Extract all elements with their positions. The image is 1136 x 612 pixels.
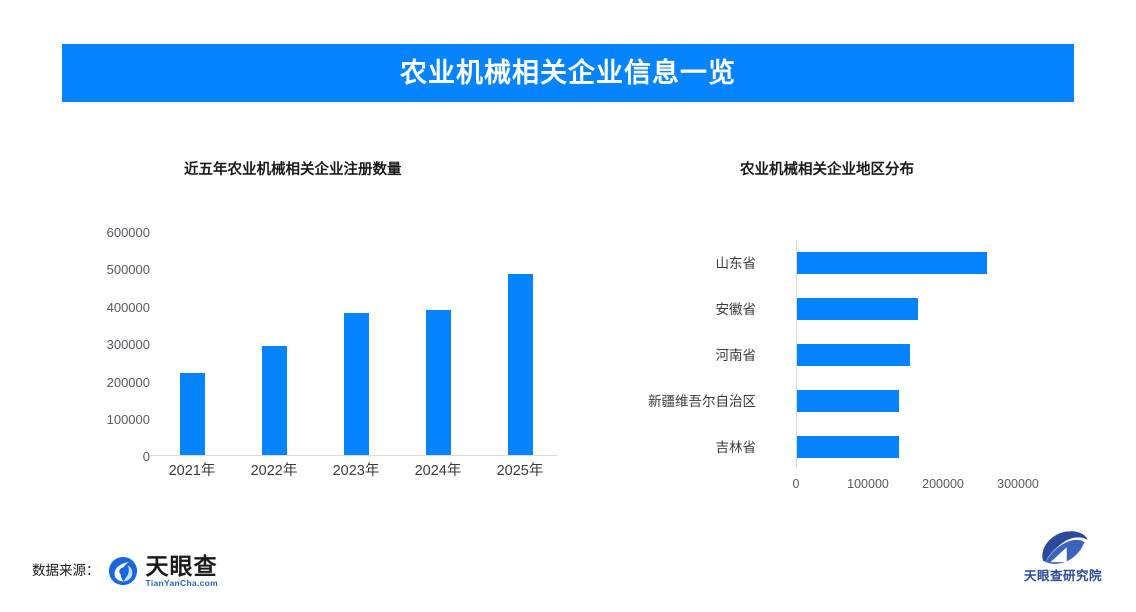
bar-2024 bbox=[426, 310, 451, 455]
x-tick-label-300000: 300000 bbox=[973, 478, 1063, 491]
x-tick-label-2025: 2025年 bbox=[480, 464, 560, 479]
poster-canvas: 农业机械相关企业信息一览 近五年农业机械相关企业注册数量 600000 5000… bbox=[0, 0, 1136, 612]
bar-anhui bbox=[797, 298, 918, 320]
x-tick-label-2023: 2023年 bbox=[316, 464, 396, 479]
bar-jilin bbox=[797, 436, 899, 458]
tianyancha-lens-icon bbox=[108, 556, 138, 586]
bar-henan bbox=[797, 344, 910, 366]
x-tick-label-2024: 2024年 bbox=[398, 464, 478, 479]
registration-count-chart: 近五年农业机械相关企业注册数量 600000 500000 400000 300… bbox=[62, 130, 582, 500]
tianyancha-institute-icon bbox=[1037, 528, 1089, 568]
institute-footer: 天眼查研究院 bbox=[1020, 528, 1106, 583]
category-label-henan: 河南省 bbox=[716, 349, 757, 363]
bar-2022 bbox=[262, 346, 287, 455]
header-banner: 农业机械相关企业信息一览 bbox=[62, 44, 1074, 102]
page-title: 农业机械相关企业信息一览 bbox=[400, 60, 736, 87]
category-label-jilin: 吉林省 bbox=[716, 441, 757, 455]
category-label-shandong: 山东省 bbox=[716, 257, 757, 271]
bar-2023 bbox=[344, 313, 369, 455]
x-axis-line bbox=[150, 455, 558, 456]
y-tick-label: 100000 bbox=[80, 413, 150, 426]
region-distribution-chart: 农业机械相关企业地区分布 山东省 安徽省 河南省 新疆维吾尔自治区 吉林省 0 … bbox=[620, 130, 1090, 500]
data-source-label: 数据来源： bbox=[32, 564, 100, 578]
bar-xinjiang bbox=[797, 390, 899, 412]
category-label-xinjiang: 新疆维吾尔自治区 bbox=[648, 395, 756, 409]
category-label-anhui: 安徽省 bbox=[716, 303, 757, 317]
bar-shandong bbox=[797, 252, 987, 274]
bar-2025 bbox=[508, 274, 533, 455]
data-source-footer: 数据来源： 天眼查 TianYanCha.com bbox=[32, 554, 218, 588]
x-tick-label-2021: 2021年 bbox=[152, 464, 232, 479]
institute-name: 天眼查研究院 bbox=[1024, 570, 1102, 583]
y-tick-label: 400000 bbox=[80, 301, 150, 314]
x-tick-label-2022: 2022年 bbox=[234, 464, 314, 479]
y-tick-label: 500000 bbox=[80, 263, 150, 276]
brand-name-en: TianYanCha.com bbox=[146, 578, 219, 588]
right-chart-plot-area: 山东省 安徽省 河南省 新疆维吾尔自治区 吉林省 0 100000 200000… bbox=[620, 130, 1090, 500]
y-tick-label: 300000 bbox=[80, 338, 150, 351]
y-tick-label: 200000 bbox=[80, 376, 150, 389]
y-tick-label: 0 bbox=[80, 450, 150, 463]
tianyancha-wordmark: 天眼查 TianYanCha.com bbox=[146, 554, 219, 588]
left-chart-plot-area: 600000 500000 400000 300000 200000 10000… bbox=[62, 130, 582, 500]
bar-2021 bbox=[180, 373, 205, 455]
y-tick-label: 600000 bbox=[80, 226, 150, 239]
brand-name-cn: 天眼查 bbox=[146, 554, 219, 578]
